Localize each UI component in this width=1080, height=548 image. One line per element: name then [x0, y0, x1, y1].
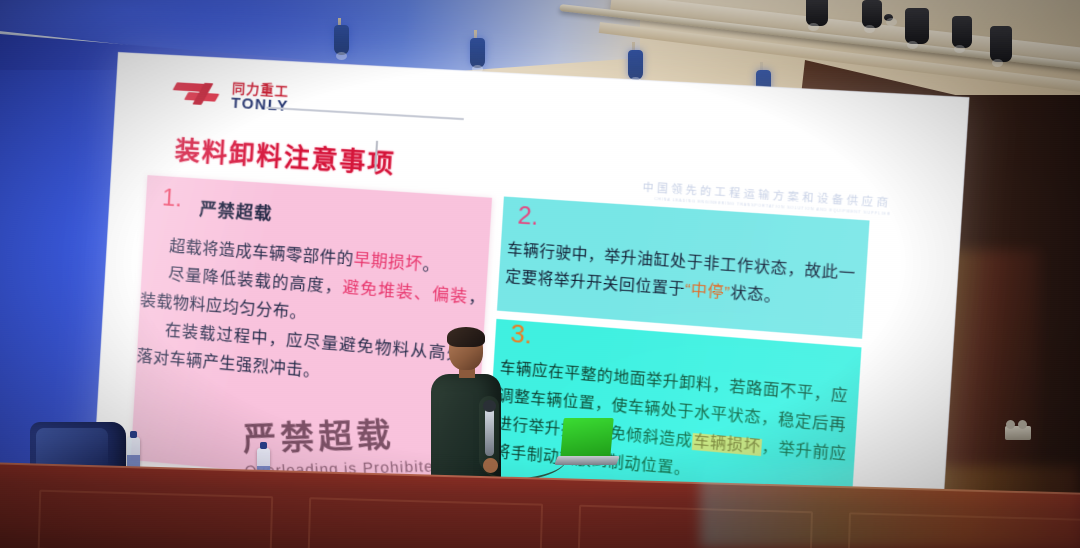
- moving-head-light-icon: [905, 8, 929, 44]
- moving-head-light-icon: [952, 16, 972, 48]
- moving-head-light-icon: [806, 0, 828, 26]
- box-2-body: 车辆行驶中，举升油缸处于非工作状态，故此一定要将举升开关回位置于“中停”状态。: [505, 236, 865, 317]
- box-2-number: 2.: [517, 202, 539, 231]
- box-1-para1-b: 。: [422, 256, 440, 275]
- box-1-para2-a: 尽量降低装载的高度，: [167, 266, 343, 297]
- laptop-base: [554, 456, 620, 465]
- content-box-2: 2. 车辆行驶中，举升油缸处于非工作状态，故此一定要将举升开关回位置于“中停”状…: [497, 196, 870, 338]
- photo-canvas: 同力重工 TONLY 装料卸料注意事项 中国领先的工程运输方案和设备供应商 CH…: [0, 0, 1080, 548]
- box-3-text-a: 车辆应在平整的地面举升卸料，若路面不平，应调整车辆位置，使车辆处于水平状态，稳定…: [496, 360, 849, 450]
- stage-light-spill: [700, 466, 1080, 548]
- box-2-highlight: “中停”: [684, 282, 730, 302]
- presenter-hair: [447, 327, 485, 347]
- stage-light-icon: [470, 38, 485, 68]
- company-logo: 同力重工 TONLY: [173, 78, 290, 114]
- logo-divider-rule: [266, 107, 463, 120]
- box-1-heading: 严禁超载: [199, 195, 273, 225]
- moving-head-light-icon: [862, 0, 882, 28]
- slide-title: 装料卸料注意事项: [174, 131, 397, 181]
- stage-light-icon: [334, 25, 349, 55]
- small-fixture-icon: [884, 14, 893, 21]
- box-1-para2-highlight: 避免堆装、偏装: [342, 279, 469, 306]
- box-1-para1-a: 超载将造成车辆零部件的: [169, 238, 355, 269]
- tonly-logo-mark-icon: [174, 79, 228, 109]
- emergency-exit-light: [1005, 426, 1031, 440]
- box-2-text-b: 状态。: [730, 285, 782, 306]
- box-3-number: 3.: [510, 320, 533, 351]
- box-3-highlight: 车辆损坏: [692, 433, 762, 456]
- stage-panel-moulding: [308, 497, 544, 548]
- moving-head-light-icon: [990, 26, 1012, 62]
- microphone-head-icon: [483, 400, 496, 412]
- stage-panel-moulding: [38, 490, 274, 548]
- stage-light-icon: [628, 50, 643, 80]
- box-2-text-a: 车辆行驶中，举升油缸处于非工作状态，故此一定要将举升开关回位置于: [505, 242, 856, 299]
- laptop: [556, 418, 618, 470]
- box-1-para1-highlight: 早期损坏: [353, 251, 423, 273]
- box-1-number: 1.: [161, 184, 183, 213]
- logo-english-name: TONLY: [231, 96, 290, 115]
- laptop-screen: [560, 418, 613, 458]
